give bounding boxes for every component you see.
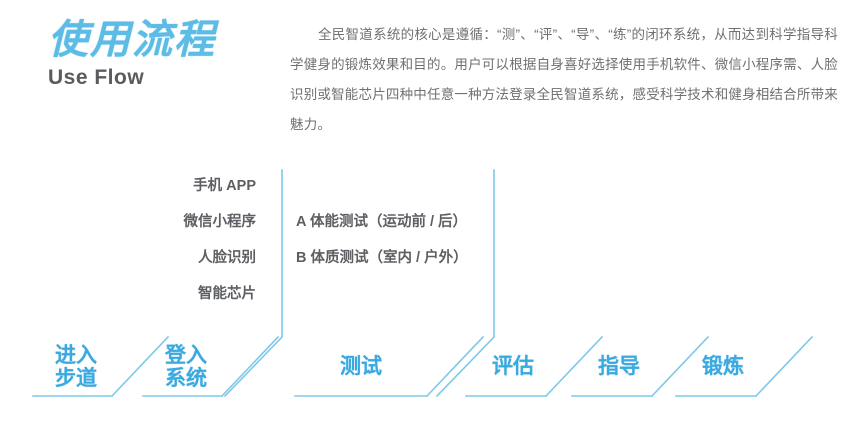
flow-step-2-line1: 登入 — [148, 344, 224, 367]
flow-step-1[interactable]: 进入 步道 — [38, 344, 114, 390]
flow-step-2[interactable]: 登入 系统 — [148, 344, 224, 390]
flow-slash-6 — [756, 337, 812, 396]
flow-slash-2 — [222, 337, 278, 396]
flow-slash-3 — [427, 337, 483, 396]
flow-step-3[interactable]: 测试 — [318, 356, 404, 378]
flow-step-4[interactable]: 评估 — [478, 356, 548, 378]
flow-step-3-line1: 测试 — [318, 356, 404, 378]
flow-step-6-line1: 锻炼 — [688, 356, 758, 378]
flow-step-4-line1: 评估 — [478, 356, 548, 378]
flow-step-2-line2: 系统 — [148, 367, 224, 390]
flow-step-5-line1: 指导 — [584, 356, 654, 378]
flow-step-1-line2: 步道 — [38, 367, 114, 390]
flow-step-1-line1: 进入 — [38, 344, 114, 367]
flow-step-6[interactable]: 锻炼 — [688, 356, 758, 378]
poster-canvas: 使用流程 Use Flow 全民智道系统的核心是遵循：“测”、“评”、“导”、“… — [0, 0, 851, 442]
flow-step-5[interactable]: 指导 — [584, 356, 654, 378]
